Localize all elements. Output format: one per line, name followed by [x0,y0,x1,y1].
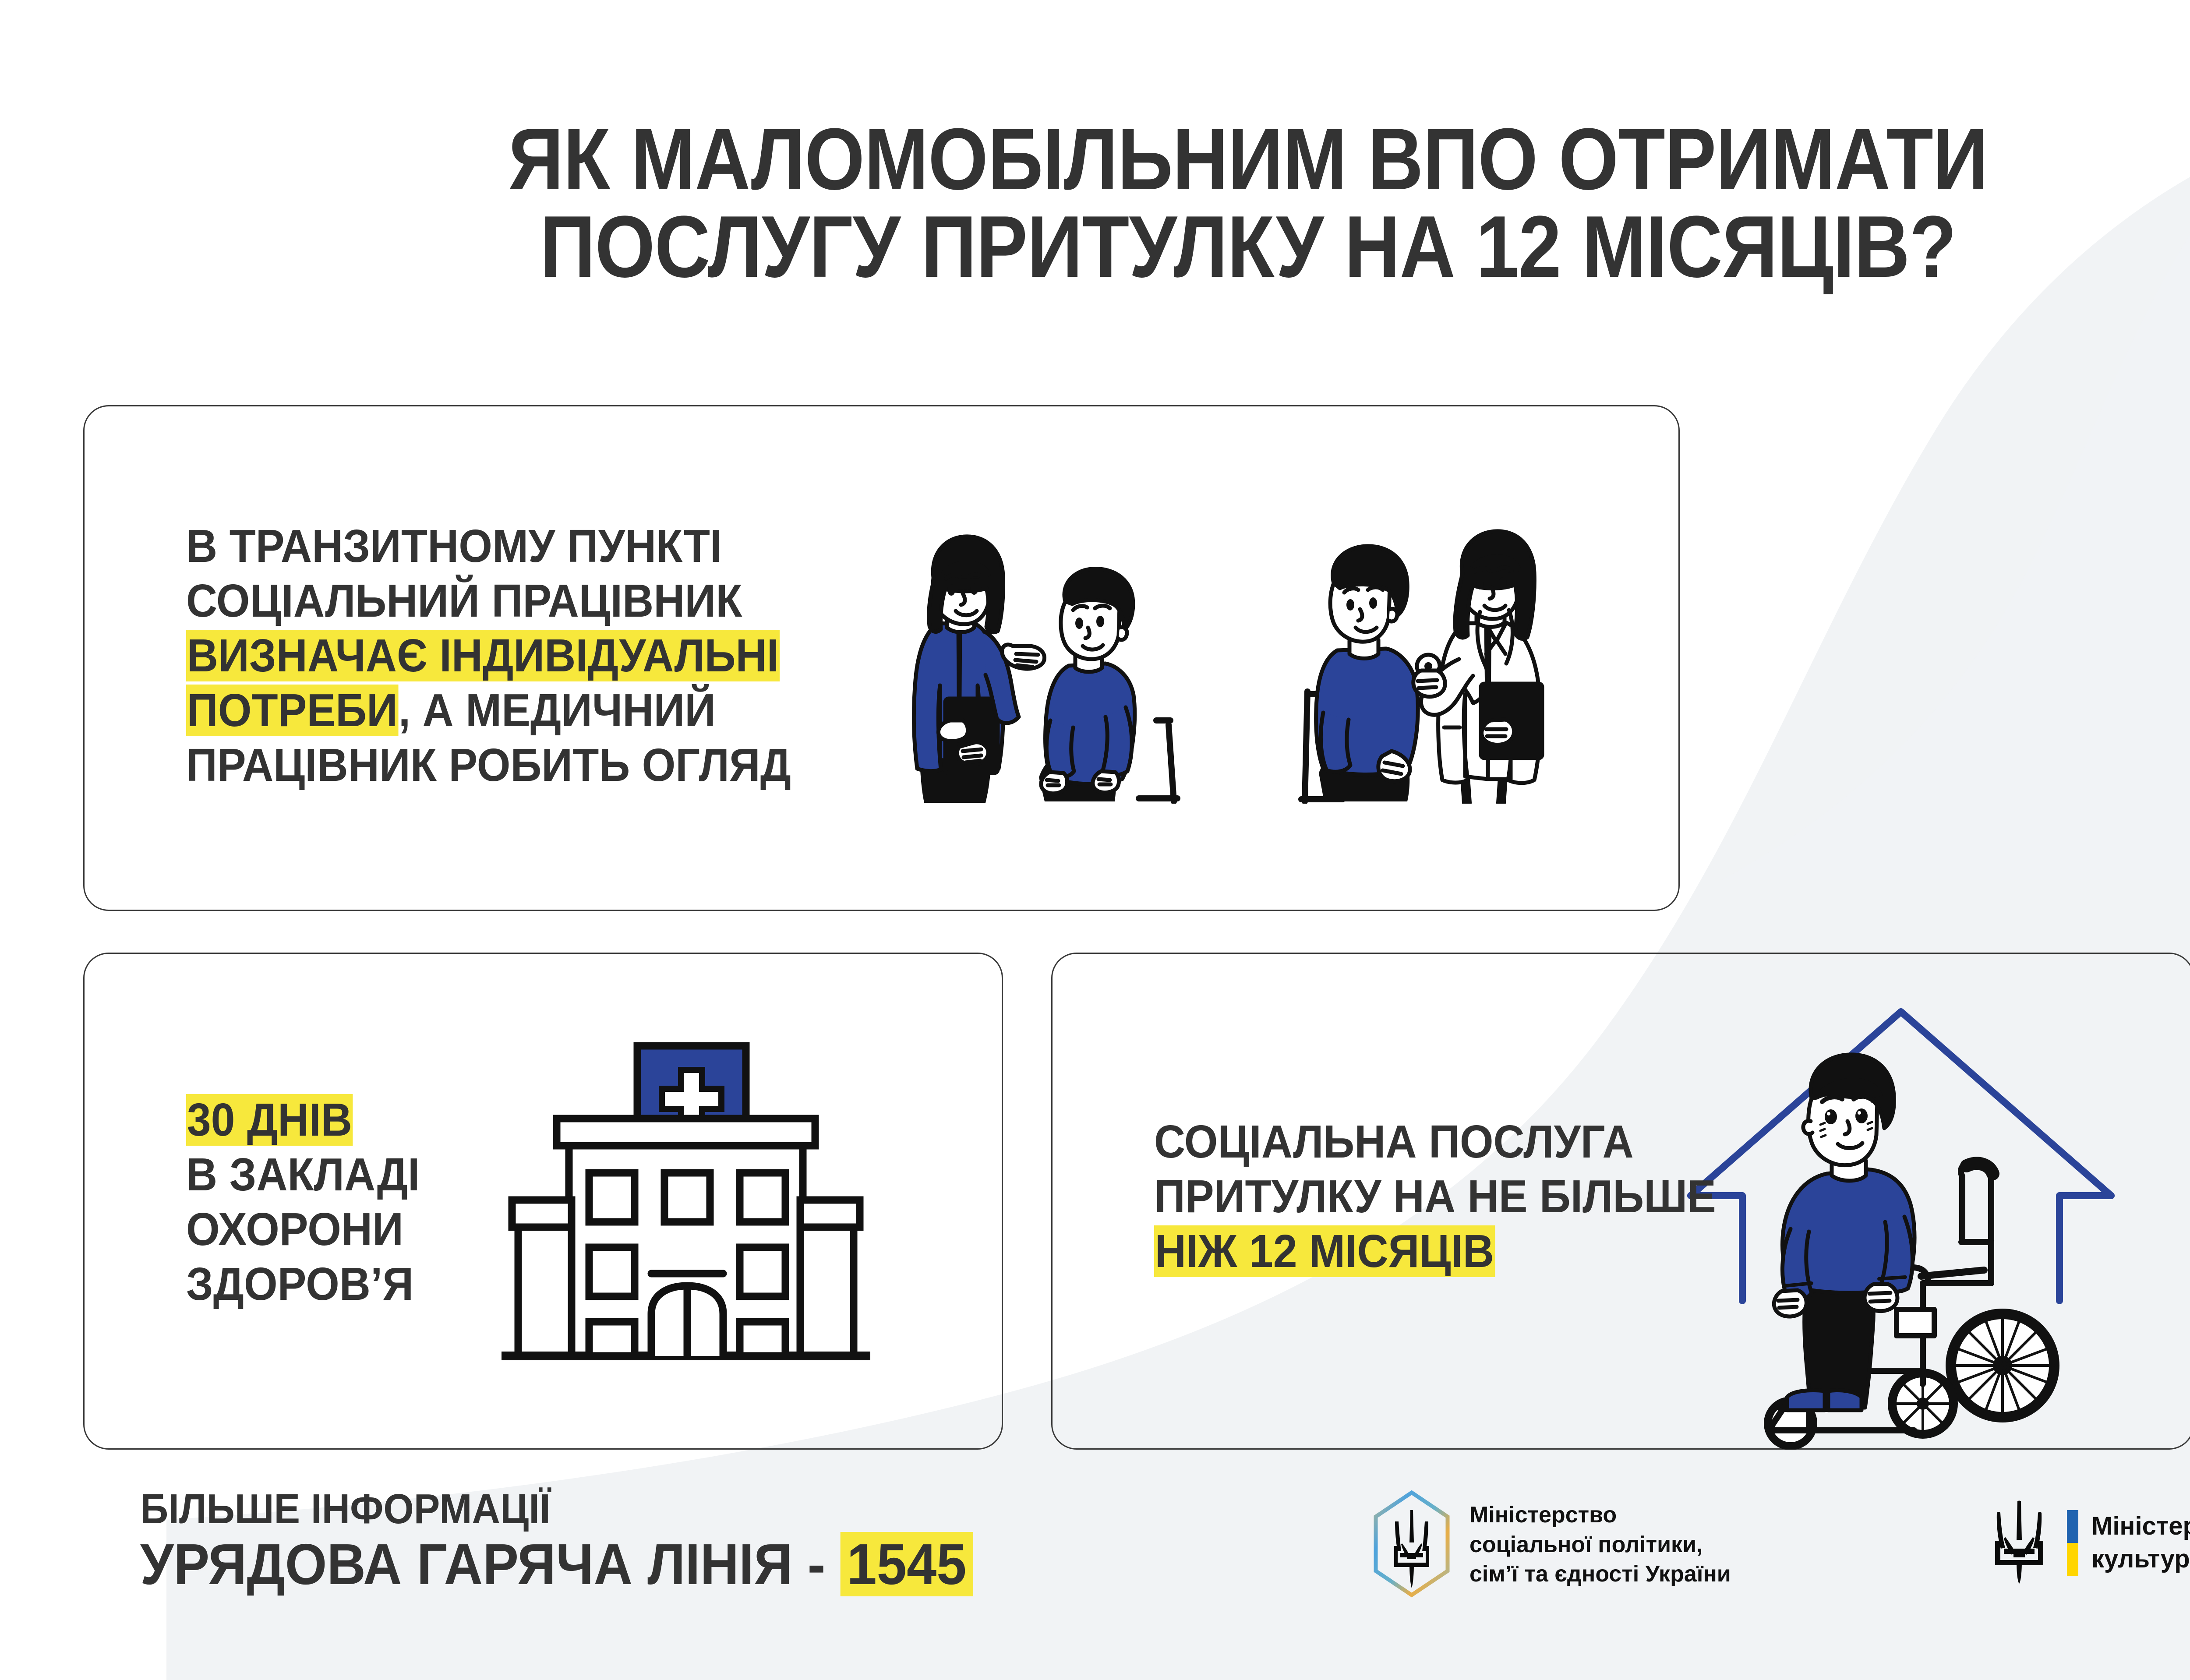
text-line: В ЗАКЛАДІ [186,1147,420,1202]
plain-text: ПРИТУЛКУ НА НЕ БІЛЬШЕ [1154,1171,1716,1222]
highlighted-text: ВИЗНАЧАЄ ІНДИВІДУАЛЬНІ [186,630,780,681]
text-line: ЗДОРОВ’Я [186,1257,420,1312]
plain-text: ПРАЦІВНИК РОБИТЬ ОГЛЯД [186,739,791,791]
logo-ministry-culture: Міністерство культури України [1986,1498,2190,1588]
text-line: НІЖ 12 МІСЯЦІВ [1154,1224,1716,1279]
logo-culture-text: Міністерство культури України [2091,1510,2190,1575]
page-title-line-2: ПОСЛУГУ ПРИТУЛКУ НА 12 МІСЯЦІВ? [150,203,2190,291]
more-info-label: БІЛЬШЕ ІНФОРМАЦІЇ [140,1487,973,1532]
text-line: ВИЗНАЧАЄ ІНДИВІДУАЛЬНІ [186,628,791,683]
hotline-label: УРЯДОВА ГАРЯЧА ЛІНІЯ - [140,1532,841,1596]
highlighted-text: 30 ДНІВ [186,1094,353,1146]
plain-text: В ТРАНЗИТНОМУ ПУНКТІ [186,520,722,572]
plain-text: , А МЕДИЧНИЙ [399,685,716,736]
logo-culture-line-2: культури України [2091,1545,2190,1573]
highlighted-text: ПОТРЕБИ [186,685,399,736]
logo-culture-line-1: Міністерство [2091,1512,2190,1540]
page-title: ЯК МАЛОМОБІЛЬНИМ ВПО ОТРИМАТИ ПОСЛУГУ ПР… [150,116,2190,291]
plain-text: В ЗАКЛАДІ [186,1149,420,1200]
card-3-text: СОЦІАЛЬНА ПОСЛУГАПРИТУЛКУ НА НЕ БІЛЬШЕНІ… [1154,1115,1716,1279]
logo-social-line-2: соціальної політики, [1469,1532,1703,1557]
plain-text: ОХОРОНИ [186,1204,403,1255]
text-line: СОЦІАЛЬНА ПОСЛУГА [1154,1115,1716,1169]
hotline-number: 1545 [841,1532,973,1596]
text-line: СОЦІАЛЬНИЙ ПРАЦІВНИК [186,574,791,628]
hotline-line: УРЯДОВА ГАРЯЧА ЛІНІЯ - 1545 [140,1533,973,1596]
text-line: ПРАЦІВНИК РОБИТЬ ОГЛЯД [186,738,791,793]
plain-text: СОЦІАЛЬНА ПОСЛУГА [1154,1116,1634,1168]
social-worker-consultation-illustration [894,515,1231,804]
highlighted-text: НІЖ 12 МІСЯЦІВ [1154,1225,1495,1277]
text-line: ПРИТУЛКУ НА НЕ БІЛЬШЕ [1154,1169,1716,1224]
plain-text: ЗДОРОВ’Я [186,1258,413,1310]
text-line: 30 ДНІВ [186,1093,420,1147]
ukrainian-trident-hexagon-icon [1369,1489,1455,1601]
text-line: ПОТРЕБИ, А МЕДИЧНИЙ [186,683,791,738]
logo-social-text: Міністерство соціальної політики, сім’ї … [1469,1500,1731,1589]
page-title-line-1: ЯК МАЛОМОБІЛЬНИМ ВПО ОТРИМАТИ [150,116,2190,203]
wheelchair-user-home-illustration [1678,977,2124,1450]
ukrainian-trident-icon [1986,1498,2052,1588]
plain-text: СОЦІАЛЬНИЙ ПРАЦІВНИК [186,575,742,627]
footer-contact-info: БІЛЬШЕ ІНФОРМАЦІЇ УРЯДОВА ГАРЯЧА ЛІНІЯ -… [140,1487,1036,1595]
logo-ministry-social-policy: Міністерство соціальної політики, сім’ї … [1369,1489,1731,1601]
hospital-building-illustration [484,1007,887,1371]
text-line: В ТРАНЗИТНОМУ ПУНКТІ [186,519,791,574]
ukraine-flag-bar-icon [2067,1510,2078,1576]
card-2-text: 30 ДНІВВ ЗАКЛАДІОХОРОНИЗДОРОВ’Я [186,1093,420,1312]
logo-social-line-3: сім’ї та єдності України [1469,1561,1731,1587]
text-line: ОХОРОНИ [186,1202,420,1257]
card-1-text: В ТРАНЗИТНОМУ ПУНКТІСОЦІАЛЬНИЙ ПРАЦІВНИК… [186,519,791,793]
logo-social-line-1: Міністерство [1469,1502,1617,1528]
medical-examination-illustration [1290,515,1605,804]
